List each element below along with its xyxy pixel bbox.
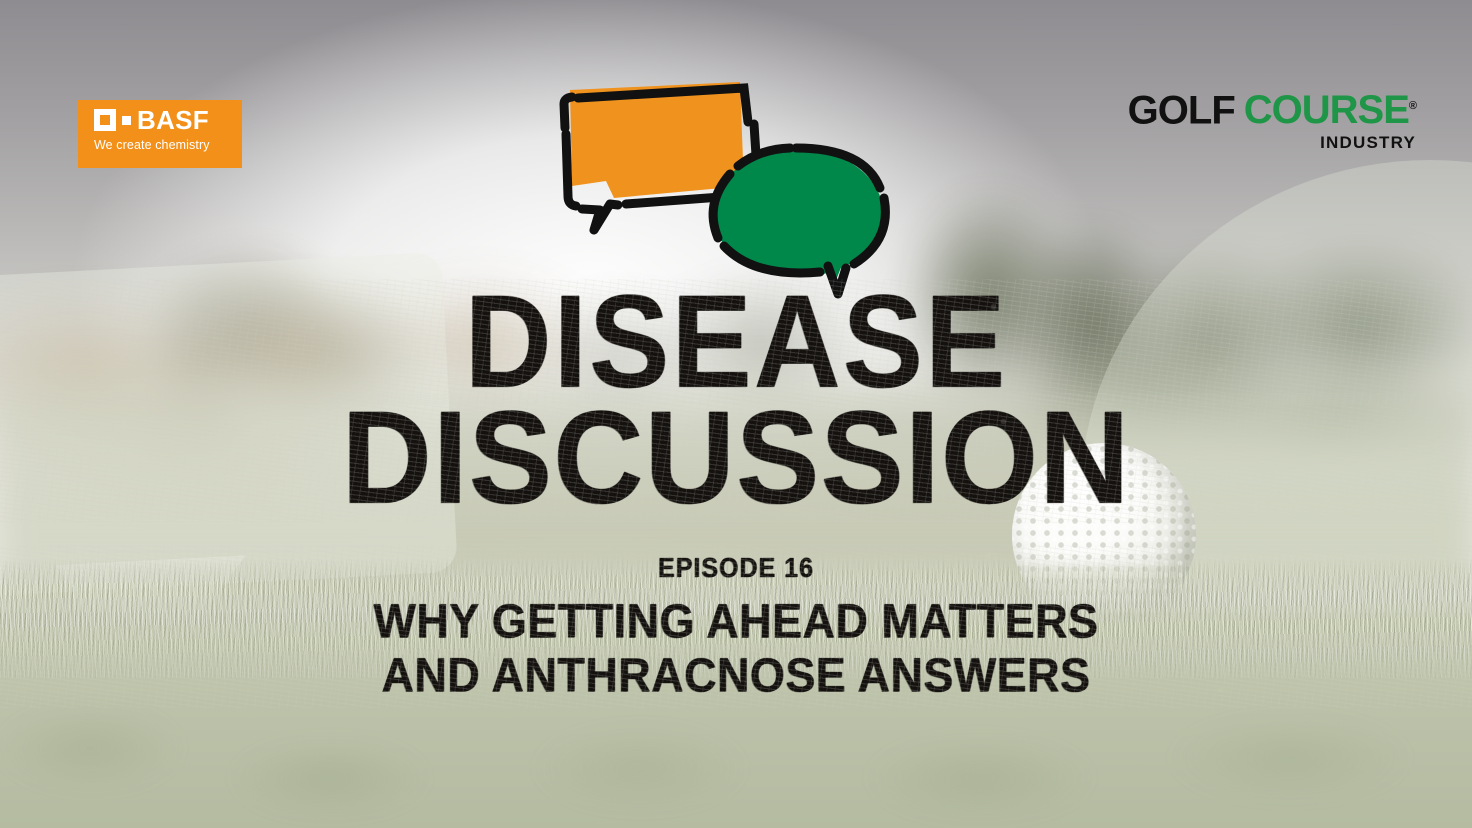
title-block: DISEASE DISCUSSION EPISODE 16 WHY GETTIN…: [0, 292, 1472, 699]
show-title-line-1: DISEASE: [0, 286, 1472, 398]
podcast-cover-art: BASF We create chemistry GOLFCOURSE® IND…: [0, 0, 1472, 828]
show-title-line-2: DISCUSSION: [0, 400, 1472, 516]
gci-word-course: COURSE: [1244, 88, 1409, 132]
gci-wordmark-row: GOLFCOURSE®: [1128, 86, 1416, 130]
gci-subtitle: INDUSTRY: [1128, 133, 1416, 153]
basf-tagline: We create chemistry: [94, 138, 242, 152]
episode-subtitle-line-1: WHY GETTING AHEAD MATTERS: [0, 597, 1472, 648]
gci-trademark-icon: ®: [1409, 100, 1416, 112]
golf-course-industry-logo[interactable]: GOLFCOURSE® INDUSTRY: [1128, 86, 1416, 153]
gci-word-golf: GOLF: [1128, 88, 1235, 132]
episode-subtitle-line-2: AND ANTHRACNOSE ANSWERS: [0, 651, 1472, 702]
basf-square-icon: [94, 109, 116, 131]
basf-wordmark: BASF: [137, 109, 209, 131]
basf-dot-icon: [122, 116, 131, 125]
basf-logo-row: BASF: [94, 109, 242, 131]
basf-logo[interactable]: BASF We create chemistry: [78, 100, 242, 168]
episode-label: EPISODE 16: [0, 552, 1472, 584]
